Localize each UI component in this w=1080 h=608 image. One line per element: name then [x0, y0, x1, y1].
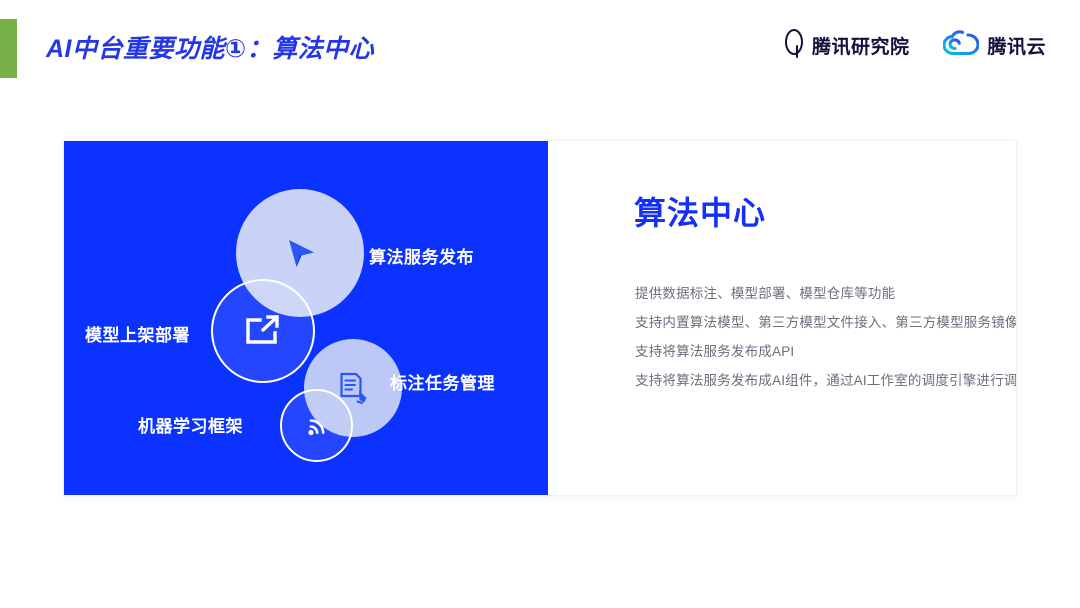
- diagram-panel: 算法服务发布 模型上架部署 标注任务管理 机器学习框架: [64, 141, 548, 496]
- tencent-cloud-icon: [943, 30, 979, 61]
- slide-header: AI中台重要功能①：算法中心 腾讯研究院: [0, 0, 1080, 96]
- detail-panel: 算法中心 提供数据标注、模型部署、模型仓库等功能 支持内置算法模型、第三方模型文…: [572, 141, 1017, 496]
- logo-group: 腾讯研究院 腾讯云: [784, 28, 1046, 63]
- tencent-research-mark-icon: [784, 28, 804, 63]
- logo-label-research: 腾讯研究院: [812, 32, 910, 59]
- logo-label-cloud: 腾讯云: [987, 32, 1046, 59]
- logo-tencent-research-institute: 腾讯研究院: [784, 28, 910, 63]
- node-label-annotation: 标注任务管理: [390, 369, 495, 394]
- node-label-framework: 机器学习框架: [138, 412, 243, 437]
- list-item: 支持内置算法模型、第三方模型文件接入、第三方模型服务镜像接入: [635, 312, 1017, 334]
- accent-bar: [0, 19, 17, 78]
- node-label-deploy: 模型上架部署: [85, 321, 190, 346]
- detail-bullet-list: 提供数据标注、模型部署、模型仓库等功能 支持内置算法模型、第三方模型文件接入、第…: [635, 283, 1017, 399]
- list-item: 支持将算法服务发布成API: [635, 341, 1017, 363]
- list-item: 提供数据标注、模型部署、模型仓库等功能: [635, 283, 1017, 305]
- page-title: AI中台重要功能①：算法中心: [46, 29, 374, 65]
- detail-title: 算法中心: [634, 188, 766, 234]
- signal-waves-icon: [280, 389, 353, 462]
- logo-tencent-cloud: 腾讯云: [943, 30, 1046, 61]
- list-item: 支持将算法服务发布成AI组件，通过AI工作室的调度引擎进行调度: [635, 370, 1017, 392]
- node-label-publish: 算法服务发布: [369, 243, 474, 268]
- external-link-icon: [211, 279, 315, 383]
- content-card: 算法服务发布 模型上架部署 标注任务管理 机器学习框架 算法中心 提供数据标注、…: [63, 140, 1017, 496]
